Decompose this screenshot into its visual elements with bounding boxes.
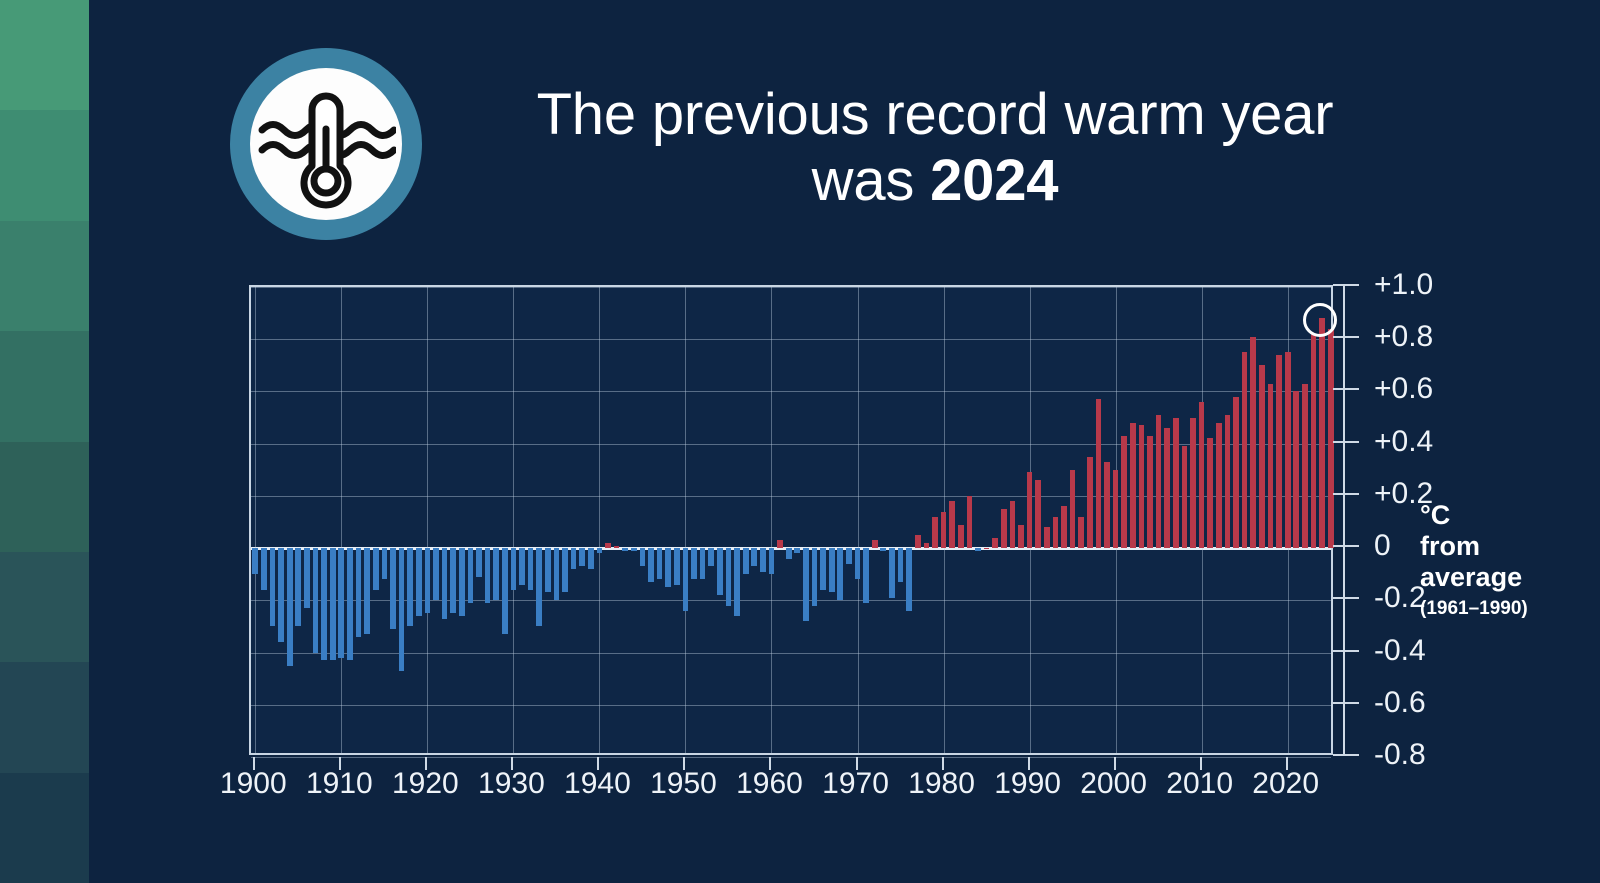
x-tick-label-1900: 1900 [220,766,287,802]
bar-1961 [777,540,783,548]
bar-1983 [967,496,973,548]
x-tick-label-1990: 1990 [994,766,1061,802]
bar-2018 [1268,384,1274,549]
axis-caption-from: from [1420,531,1595,562]
bar-2000 [1113,470,1119,548]
bar-1924 [459,548,465,616]
bar-1918 [407,548,413,626]
bar-2024 [1319,318,1325,548]
bar-1964 [803,548,809,621]
bar-1936 [562,548,568,592]
bar-series [251,287,1331,753]
bar-2021 [1293,391,1299,548]
bar-1913 [364,548,370,634]
bar-1917 [399,548,405,671]
bar-1908 [321,548,327,660]
bar-1965 [812,548,818,605]
bar-1953 [708,548,714,566]
y-tick-label--0.6: -0.6 [1374,688,1426,718]
bar-2003 [1139,425,1145,548]
bar-1958 [751,548,757,566]
bar-1986 [992,538,998,548]
bar-1979 [932,517,938,548]
bar-1939 [588,548,594,569]
x-axis-labels: 1900191019201930194019501960197019801990… [249,766,1333,816]
bar-1907 [313,548,319,652]
bar-1967 [829,548,835,592]
bar-1985 [984,548,990,549]
bar-1919 [416,548,422,616]
axis-caption-average: average [1420,562,1595,593]
plot-area [249,285,1333,755]
bar-2012 [1216,423,1222,548]
bar-1934 [545,548,551,592]
axis-caption: °C from average (1961–1990) [1420,500,1595,622]
x-tick-label-2010: 2010 [1166,766,1233,802]
bar-1969 [846,548,852,564]
bar-2002 [1130,423,1136,548]
bar-1974 [889,548,895,598]
x-tick-label-1980: 1980 [908,766,975,802]
bar-1947 [657,548,663,579]
bar-1992 [1044,527,1050,548]
bar-1911 [347,548,353,660]
bar-1959 [760,548,766,572]
bar-1922 [442,548,448,619]
x-tick-label-1940: 1940 [564,766,631,802]
y-tick-label--0.4: -0.4 [1374,636,1426,666]
bar-1928 [493,548,499,600]
bar-1937 [571,548,577,569]
bar-1949 [674,548,680,585]
bar-1982 [958,525,964,549]
bar-2014 [1233,397,1239,548]
bar-1916 [390,548,396,629]
slide-canvas: The previous record warm year was 2024 +… [0,0,1600,883]
bar-1931 [519,548,525,585]
bar-2007 [1173,418,1179,549]
y-tick-label-0.8: +0.8 [1374,322,1433,352]
bar-2006 [1164,428,1170,548]
bar-1980 [941,512,947,549]
bar-1930 [511,548,517,590]
bar-1948 [665,548,671,587]
bar-2010 [1199,402,1205,548]
bar-1976 [906,548,912,611]
bar-1933 [536,548,542,626]
bar-1929 [502,548,508,634]
bar-1999 [1104,462,1110,548]
axis-caption-baseline: (1961–1990) [1420,596,1595,622]
y-tick-label-0: 0 [1374,531,1391,561]
bar-1987 [1001,509,1007,548]
y-tick-label-0.6: +0.6 [1374,374,1433,404]
x-tick-label-1960: 1960 [736,766,803,802]
bar-1988 [1010,501,1016,548]
x-tick-label-1930: 1930 [478,766,545,802]
bar-1926 [476,548,482,577]
bar-1984 [975,548,981,551]
bar-1904 [287,548,293,666]
bar-1940 [597,548,603,553]
bar-1962 [786,548,792,558]
bar-1900 [252,548,258,574]
bar-1993 [1053,517,1059,548]
bar-1945 [640,548,646,566]
bar-2011 [1207,438,1213,548]
bar-1968 [837,548,843,600]
bar-1909 [330,548,336,660]
bar-1955 [726,548,732,605]
bar-1960 [769,548,775,574]
bar-1941 [605,543,611,548]
bar-1996 [1078,517,1084,548]
bar-1944 [631,548,637,551]
bar-1923 [450,548,456,613]
bar-1952 [700,548,706,579]
bar-1957 [743,548,749,574]
bar-2019 [1276,355,1282,548]
bar-2022 [1302,384,1308,549]
bar-1971 [863,548,869,603]
bar-2023 [1311,334,1317,548]
bar-2008 [1182,446,1188,548]
bar-1997 [1087,457,1093,548]
bar-1989 [1018,525,1024,549]
x-tick-label-1970: 1970 [822,766,889,802]
bar-1966 [820,548,826,590]
bar-1963 [794,548,800,553]
bar-1906 [304,548,310,608]
bar-1977 [915,535,921,548]
bar-1950 [683,548,689,611]
bar-1998 [1096,399,1102,548]
bar-1938 [579,548,585,566]
bar-1925 [468,548,474,603]
x-tick-label-1910: 1910 [306,766,373,802]
bar-2009 [1190,418,1196,549]
bar-1981 [949,501,955,548]
bar-1951 [691,548,697,579]
bar-1946 [648,548,654,582]
bar-1978 [924,543,930,548]
y-tick-label-1: +1.0 [1374,270,1433,300]
temperature-anomaly-chart: +1.0+0.8+0.6+0.4+0.20-0.2-0.4-0.6-0.8 19… [0,0,1600,883]
bar-1914 [373,548,379,590]
bar-1920 [425,548,431,613]
bar-2016 [1250,337,1256,549]
bar-1905 [295,548,301,626]
x-tick-label-1950: 1950 [650,766,717,802]
axis-caption-unit: °C [1420,500,1595,531]
bar-2015 [1242,352,1248,548]
bar-1990 [1027,472,1033,548]
x-tick-label-2000: 2000 [1080,766,1147,802]
bar-1915 [382,548,388,579]
bar-1901 [261,548,267,590]
bar-1910 [338,548,344,658]
bar-2004 [1147,436,1153,548]
y-tick-label-0.4: +0.4 [1374,427,1433,457]
bar-1943 [622,548,628,551]
bar-1954 [717,548,723,595]
bar-1972 [872,540,878,548]
bar-1912 [356,548,362,637]
bar-2020 [1285,352,1291,548]
bar-2017 [1259,365,1265,548]
bar-1921 [433,548,439,600]
x-tick-label-2020: 2020 [1252,766,1319,802]
bar-1994 [1061,506,1067,548]
bar-2005 [1156,415,1162,548]
bar-1973 [880,548,886,551]
bar-1956 [734,548,740,616]
y-tick-label--0.2: -0.2 [1374,583,1426,613]
bar-1927 [485,548,491,603]
y-tick-label--0.8: -0.8 [1374,740,1426,770]
bar-1991 [1035,480,1041,548]
bar-1995 [1070,470,1076,548]
bar-2013 [1225,415,1231,548]
bar-1970 [855,548,861,579]
bar-1975 [898,548,904,582]
bar-2001 [1121,436,1127,548]
x-tick-label-1920: 1920 [392,766,459,802]
bar-1932 [528,548,534,590]
bar-1942 [614,546,620,549]
bar-1903 [278,548,284,642]
bar-1902 [270,548,276,626]
bar-1935 [554,548,560,600]
